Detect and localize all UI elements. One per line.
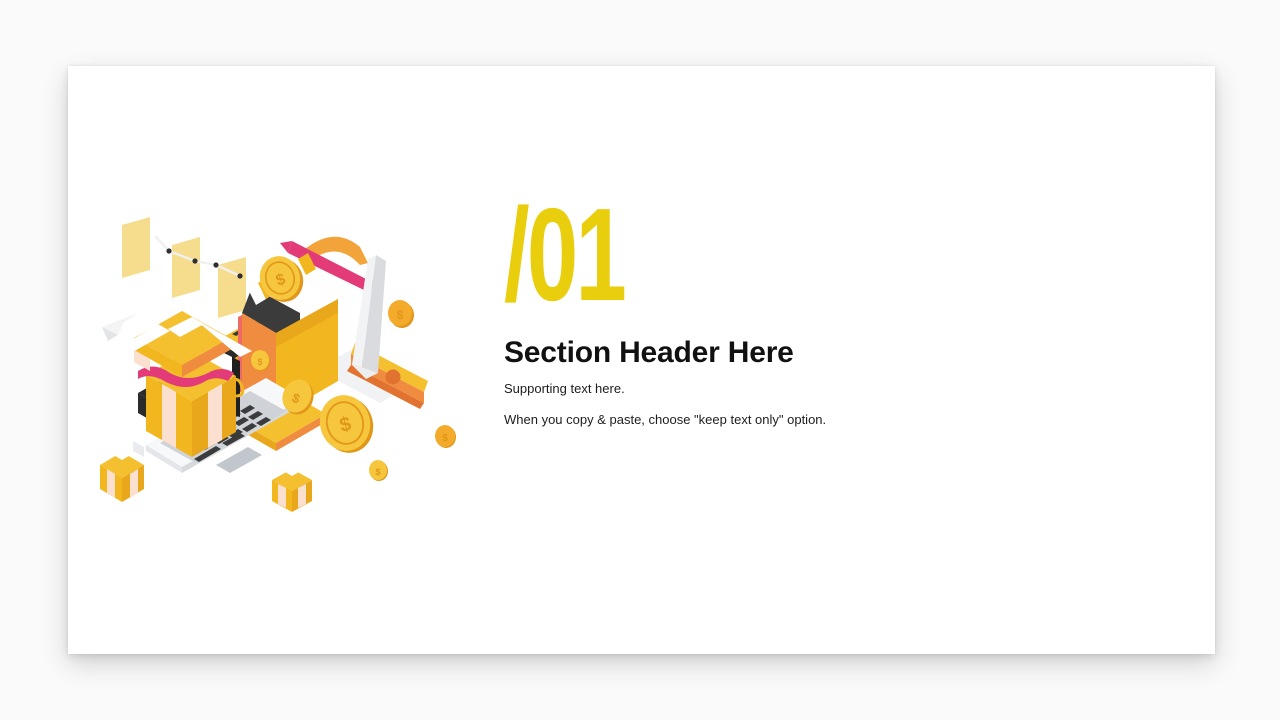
chart-point [213, 262, 218, 267]
coin: $ [314, 390, 379, 458]
gift-box-small [100, 441, 144, 502]
slide-stage: $ $ $ $ [0, 0, 1280, 720]
coin: $ [369, 460, 388, 481]
laptop-trackpad [216, 447, 262, 473]
isometric-ecommerce-illustration: $ $ $ $ [80, 195, 480, 515]
chart-point [237, 273, 242, 278]
panel-2 [172, 237, 200, 298]
svg-text:$: $ [375, 467, 380, 477]
panel-chart-group [122, 217, 246, 318]
chart-point [166, 248, 171, 253]
text-column: /01 Section Header Here Supporting text … [504, 202, 1124, 308]
slide-card: $ $ $ $ [68, 66, 1215, 654]
giftbox-ribbon-side [208, 384, 222, 448]
chart-point [192, 258, 197, 263]
counter-button [386, 370, 401, 385]
svg-text:$: $ [257, 357, 262, 367]
coin: $ [435, 425, 456, 448]
page-title: Section Header Here [504, 336, 794, 371]
supporting-text-line-2: When you copy & paste, choose "keep text… [504, 412, 826, 429]
supporting-text-line-1: Supporting text here. [504, 381, 625, 398]
section-number: /01 [504, 202, 938, 308]
svg-text:$: $ [442, 433, 448, 444]
coin: $ [388, 300, 414, 328]
giftbox-ribbon-front [162, 384, 176, 448]
paper-plane-icon [102, 313, 138, 341]
panel-3 [218, 257, 246, 318]
panel-1 [122, 217, 150, 278]
svg-text:$: $ [397, 308, 404, 322]
gift-box-small [272, 461, 312, 512]
